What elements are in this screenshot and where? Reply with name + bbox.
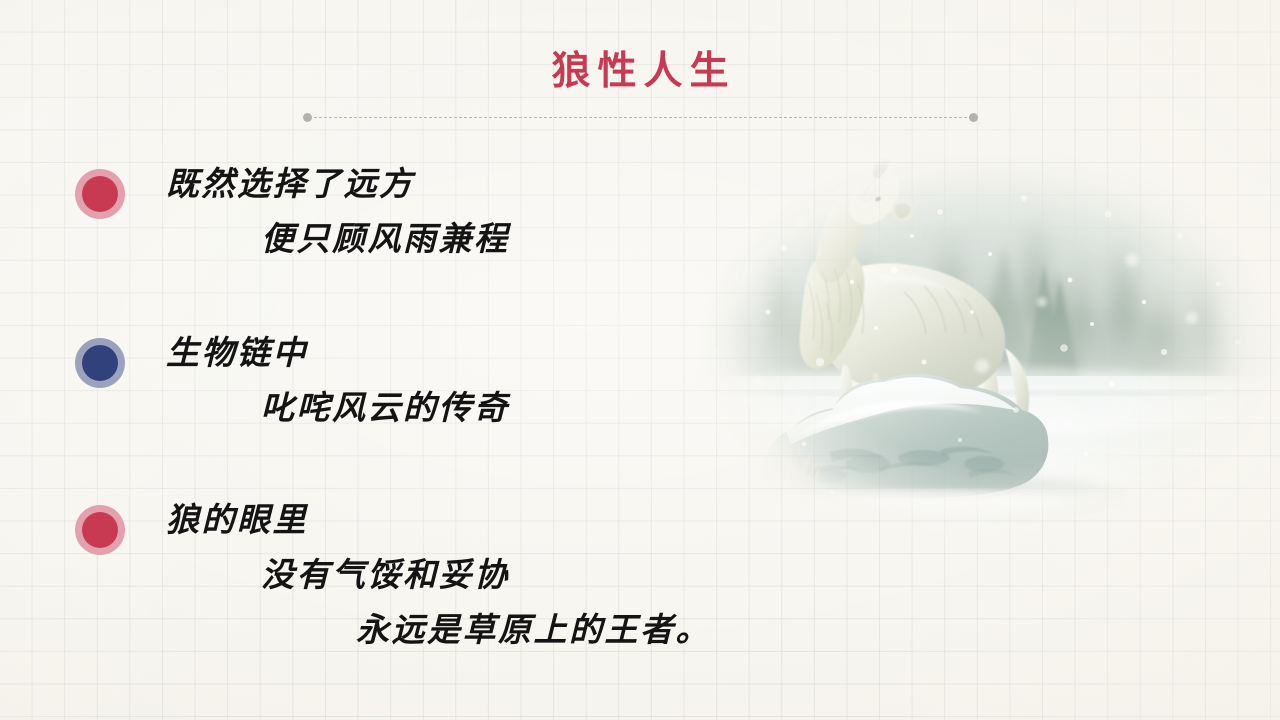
bullet-line: 狼的眼里	[160, 494, 700, 549]
bullet-line: 既然选择了远方	[160, 158, 700, 213]
bullet-text-group-3: 狼的眼里 没有气馁和妥协 永远是草原上的王者。	[160, 494, 700, 659]
slide-canvas: 狼性人生 既然选择了远方 便只顾风雨兼程 生物链中 叱咤风云的传奇	[0, 0, 1280, 720]
wolf-photo	[672, 152, 1280, 562]
bullet-marker-3	[75, 505, 125, 555]
bullet-line: 便只顾风雨兼程	[160, 213, 700, 268]
bullet-line: 永远是草原上的王者。	[160, 604, 700, 659]
bullet-text-group-1: 既然选择了远方 便只顾风雨兼程	[160, 158, 700, 268]
bullet-line: 生物链中	[160, 327, 700, 382]
bullet-marker-1	[75, 169, 125, 219]
bullet-marker-core-1	[82, 176, 118, 212]
bullet-marker-core-3	[82, 512, 118, 548]
bullet-marker-core-2	[82, 345, 118, 381]
bullet-line: 没有气馁和妥协	[160, 549, 700, 604]
bullet-text-group-2: 生物链中 叱咤风云的传奇	[160, 327, 700, 437]
bullet-line: 叱咤风云的传奇	[160, 382, 700, 437]
bullet-marker-2	[75, 338, 125, 388]
bullet-list: 既然选择了远方 便只顾风雨兼程 生物链中 叱咤风云的传奇 狼的眼里 没有气馁和妥…	[0, 0, 700, 720]
divider-dot-right	[969, 113, 978, 122]
